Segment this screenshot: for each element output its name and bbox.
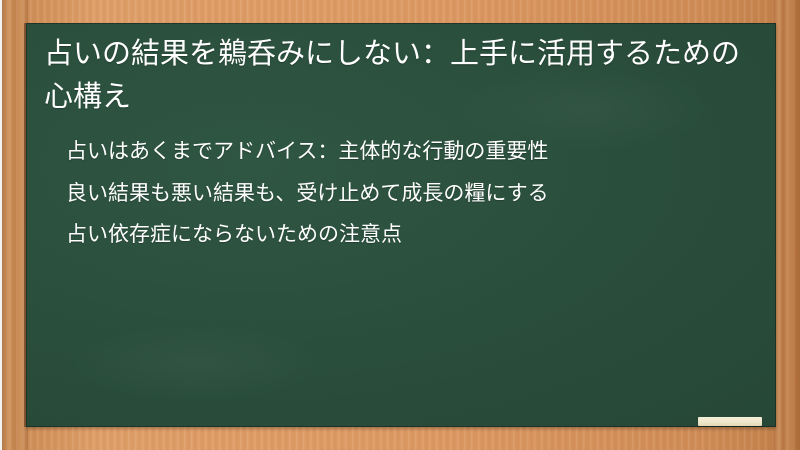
list-item: 良い結果も悪い結果も、受け止めて成長の糧にする [66, 178, 732, 210]
list-item: 占いはあくまでアドバイス：主体的な行動の重要性 [66, 136, 732, 168]
list-item: 占い依存症にならないための注意点 [66, 219, 732, 251]
slide-title: 占いの結果を鵜呑みにしない：上手に活用するための心構え [40, 33, 758, 118]
blackboard-wooden-frame: 占いの結果を鵜呑みにしない：上手に活用するための心構え 占いはあくまでアドバイス… [2, 0, 800, 450]
slide-canvas: 占いの結果を鵜呑みにしない：上手に活用するための心構え 占いはあくまでアドバイス… [0, 0, 800, 450]
slide-bullet-list: 占いはあくまでアドバイス：主体的な行動の重要性 良い結果も悪い結果も、受け止めて… [40, 136, 758, 251]
chalk-stick-icon [698, 417, 762, 426]
chalkboard-content: 占いの結果を鵜呑みにしない：上手に活用するための心構え 占いはあくまでアドバイス… [26, 23, 776, 427]
chalkboard-surface: 占いの結果を鵜呑みにしない：上手に活用するための心構え 占いはあくまでアドバイス… [26, 23, 776, 427]
wood-grain-left [2, 0, 28, 450]
